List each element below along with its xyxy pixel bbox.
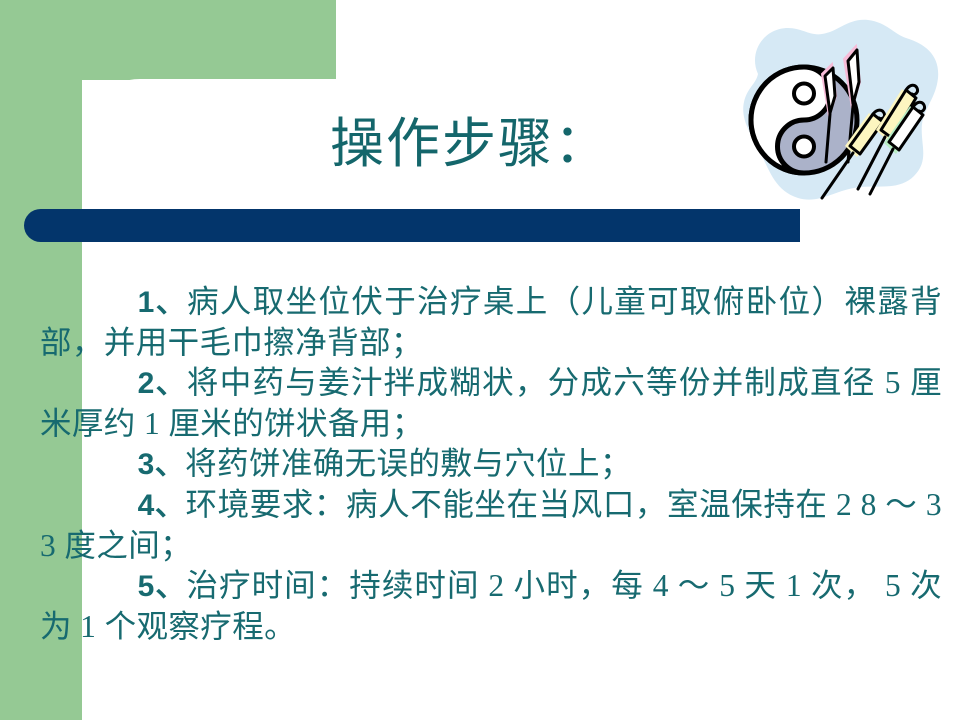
yin-yang-acupuncture-icon <box>726 12 956 208</box>
list-item-marker: 2、 <box>138 367 187 400</box>
list-item: 1、病人取坐位伏于治疗桌上（儿童可取俯卧位）裸露背部，并用干毛巾擦净背部； <box>40 282 942 363</box>
steps-list: 1、病人取坐位伏于治疗桌上（儿童可取俯卧位）裸露背部，并用干毛巾擦净背部； 2、… <box>40 282 942 647</box>
list-item: 4、环境要求：病人不能坐在当风口，室温保持在 2 8 ～ 3 3 度之间； <box>40 485 942 566</box>
list-item-text: 将药饼准确无误的敷与穴位上； <box>185 446 632 481</box>
list-item: 2、将中药与姜汁拌成糊状，分成六等份并制成直径 5 厘米厚约 1 厘米的饼状备用… <box>40 363 942 444</box>
list-item-marker: 3、 <box>138 448 186 481</box>
list-item-marker: 5、 <box>138 570 187 603</box>
page-title: 操作步骤： <box>150 116 790 172</box>
list-item: 5、治疗时间：持续时间 2 小时，每 4 ～ 5 天 1 次， 5 次为 1 个… <box>40 566 942 647</box>
list-item: 3、将药饼准确无误的敷与穴位上； <box>40 444 942 485</box>
navy-divider-bar <box>24 209 800 242</box>
list-item-marker: 1、 <box>138 286 187 319</box>
list-item-marker: 4、 <box>138 489 186 522</box>
slide-canvas: 操作步骤： 1、病人取坐位伏于治疗桌上（儿童可取俯卧位）裸露背部，并用干毛巾擦净… <box>0 0 960 720</box>
